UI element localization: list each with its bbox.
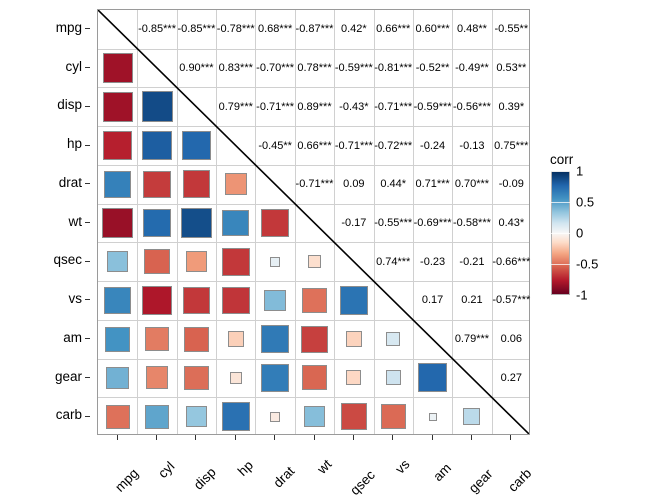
x-axis-tick	[510, 435, 511, 440]
correlation-cell-label: -0.17	[334, 204, 373, 243]
x-axis-tick	[274, 435, 275, 440]
y-axis-label-disp: disp	[57, 86, 82, 125]
correlation-cell-label: -0.71***	[255, 87, 294, 126]
x-axis-tick	[117, 435, 118, 440]
legend-tick-label: 0.5	[576, 196, 594, 209]
y-axis-tick	[85, 416, 90, 417]
correlation-cell-square	[230, 372, 242, 384]
correlation-cell-square	[183, 287, 211, 315]
correlation-cell-square	[301, 326, 328, 353]
correlation-cell-square	[463, 408, 480, 425]
grid-line-horizontal	[98, 359, 529, 360]
correlation-cell-label: 0.78***	[295, 49, 334, 88]
correlation-cell-square	[222, 402, 250, 430]
correlation-cell-label: -0.72***	[374, 126, 413, 165]
x-axis-tick	[195, 435, 196, 440]
x-axis-label-mpg: mpg	[112, 466, 141, 495]
correlation-cell-square	[146, 366, 169, 389]
x-axis-label-disp: disp	[191, 465, 219, 493]
correlation-cell-square	[184, 327, 209, 352]
correlation-cell-label: -0.57***	[492, 281, 531, 320]
x-axis-label-cyl: cyl	[155, 459, 177, 481]
x-axis-label-carb: carb	[505, 466, 534, 495]
correlation-cell-square	[106, 405, 130, 429]
correlation-cell-square	[228, 331, 244, 347]
x-axis-label-hp: hp	[235, 458, 256, 479]
correlation-cell-square	[270, 412, 280, 422]
x-axis-tick	[471, 435, 472, 440]
correlation-cell-square	[418, 363, 447, 392]
correlation-cell-label: 0.17	[413, 281, 452, 320]
correlation-cell-square	[102, 208, 133, 239]
correlation-cell-label: -0.85***	[177, 10, 216, 49]
y-axis-tick	[85, 377, 90, 378]
correlation-cell-square	[304, 406, 325, 427]
y-axis-tick	[85, 145, 90, 146]
correlation-cell-square	[381, 404, 406, 429]
correlation-cell-label: 0.70***	[452, 165, 491, 204]
y-axis-label-carb: carb	[56, 396, 82, 435]
legend-tick-mark	[551, 295, 570, 296]
legend: corr 10.50-0.5-1	[548, 152, 668, 302]
x-axis-tick	[353, 435, 354, 440]
correlation-cell-square	[103, 53, 133, 83]
correlation-cell-label: -0.58***	[452, 204, 491, 243]
correlation-cell-label: -0.71***	[295, 165, 334, 204]
correlation-cell-square	[144, 249, 169, 274]
correlation-cell-square	[386, 370, 401, 385]
legend-tick-label: 0	[576, 227, 583, 240]
correlation-cell-square	[261, 364, 288, 391]
correlation-cell-square	[261, 325, 289, 353]
correlation-cell-label: 0.09	[334, 165, 373, 204]
correlation-cell-label: -0.52**	[413, 49, 452, 88]
y-axis-label-vs: vs	[69, 280, 83, 319]
correlation-cell-square	[142, 91, 173, 122]
legend-tick-label: 1	[576, 165, 583, 178]
x-axis-tick	[314, 435, 315, 440]
correlation-cell-label: -0.24	[413, 126, 452, 165]
correlation-cell-square	[308, 255, 321, 268]
grid-line-vertical	[137, 10, 138, 434]
correlation-cell-square	[104, 171, 131, 198]
correlation-cell-label: 0.48**	[452, 10, 491, 49]
correlation-cell-label: -0.21	[452, 242, 491, 281]
correlation-cell-label: -0.43*	[334, 87, 373, 126]
correlation-cell-square	[182, 131, 211, 160]
y-axis-label-qsec: qsec	[53, 241, 82, 280]
correlation-cell-square	[346, 370, 361, 385]
correlation-cell-label: 0.90***	[177, 49, 216, 88]
correlation-cell-label: -0.81***	[374, 49, 413, 88]
correlation-cell-square	[145, 327, 169, 351]
correlation-matrix-plot: mpgcyldisphpdratwtqsecvsamgearcarb -0.85…	[0, 0, 672, 480]
y-axis-tick	[85, 222, 90, 223]
correlation-cell-label: -0.49**	[452, 49, 491, 88]
x-axis-label-qsec: qsec	[347, 467, 378, 498]
correlation-cell-square	[222, 210, 249, 237]
legend-tick-mark	[551, 264, 570, 265]
correlation-cell-label: 0.83***	[216, 49, 255, 88]
y-axis-label-gear: gear	[55, 358, 82, 397]
correlation-cell-label: -0.71***	[334, 126, 373, 165]
correlation-cell-label: -0.66***	[492, 242, 531, 281]
correlation-cell-label: 0.66***	[295, 126, 334, 165]
x-axis-label-am: am	[430, 460, 454, 484]
correlation-cell-label: -0.69***	[413, 204, 452, 243]
y-axis-label-hp: hp	[67, 125, 82, 164]
correlation-cell-square	[143, 171, 170, 198]
correlation-cell-label: 0.53**	[492, 49, 531, 88]
correlation-cell-square	[302, 365, 327, 390]
correlation-cell-square	[105, 327, 130, 352]
correlation-cell-square	[103, 92, 133, 122]
correlation-cell-label: 0.66***	[374, 10, 413, 49]
correlation-cell-square	[142, 286, 171, 315]
correlation-cell-square	[145, 405, 169, 429]
y-axis-tick	[85, 338, 90, 339]
correlation-cell-label: 0.75***	[492, 126, 531, 165]
x-axis-tick	[392, 435, 393, 440]
correlation-cell-label: -0.71***	[374, 87, 413, 126]
correlation-cell-label: -0.87***	[295, 10, 334, 49]
correlation-cell-square	[302, 288, 326, 312]
correlation-cell-square	[104, 287, 131, 314]
y-axis-tick	[85, 299, 90, 300]
correlation-cell-square	[222, 287, 250, 315]
legend-tick-label: -1	[576, 289, 588, 302]
correlation-cell-square	[103, 131, 132, 160]
correlation-cell-label: 0.44*	[374, 165, 413, 204]
x-axis-label-vs: vs	[393, 457, 413, 477]
correlation-cell-label: 0.60***	[413, 10, 452, 49]
x-axis-label-gear: gear	[466, 466, 496, 496]
correlation-cell-square	[186, 251, 207, 272]
y-axis-label-am: am	[63, 319, 82, 358]
correlation-cell-label: -0.13	[452, 126, 491, 165]
x-axis-label-drat: drat	[270, 463, 297, 490]
grid-line-horizontal	[98, 397, 529, 398]
correlation-cell-label: 0.06	[492, 320, 531, 359]
correlation-cell-label: 0.89***	[295, 87, 334, 126]
correlation-cell-square	[264, 290, 286, 312]
correlation-cell-square	[186, 406, 206, 426]
correlation-cell-square	[142, 131, 172, 161]
correlation-cell-square	[106, 367, 129, 390]
correlation-cell-square	[143, 209, 172, 238]
legend-tick-mark	[551, 171, 570, 172]
y-axis-label-wt: wt	[69, 203, 83, 242]
correlation-cell-label: -0.56***	[452, 87, 491, 126]
correlation-cell-square	[222, 248, 250, 276]
correlation-cell-label: 0.68***	[255, 10, 294, 49]
correlation-cell-label: -0.45**	[255, 126, 294, 165]
correlation-cell-label: -0.09	[492, 165, 531, 204]
legend-title: corr	[550, 152, 573, 167]
correlation-cell-label: 0.43*	[492, 204, 531, 243]
correlation-cell-label: 0.79***	[216, 87, 255, 126]
x-axis-tick	[235, 435, 236, 440]
correlation-cell-label: -0.55***	[374, 204, 413, 243]
correlation-cell-square	[429, 413, 437, 421]
correlation-cell-square	[184, 366, 208, 390]
y-axis-label-cyl: cyl	[66, 48, 83, 87]
legend-tick-mark	[551, 202, 570, 203]
y-axis-tick	[85, 28, 90, 29]
y-axis-tick	[85, 67, 90, 68]
correlation-cell-square	[386, 332, 399, 345]
correlation-cell-square	[341, 403, 368, 430]
correlation-cell-square	[346, 331, 362, 347]
y-axis: mpgcyldisphpdratwtqsecvsamgearcarb	[0, 9, 92, 435]
y-axis-label-mpg: mpg	[56, 9, 82, 48]
x-axis-tick	[432, 435, 433, 440]
correlation-cell-label: -0.23	[413, 242, 452, 281]
correlation-cell-label: -0.70***	[255, 49, 294, 88]
x-axis-label-wt: wt	[314, 457, 334, 477]
x-axis: mpgcyldisphpdratwtqsecvsamgearcarb	[97, 435, 530, 480]
y-axis-tick	[85, 106, 90, 107]
correlation-cell-square	[181, 208, 212, 239]
correlation-cell-label: -0.85***	[137, 10, 176, 49]
correlation-cell-label: -0.59***	[334, 49, 373, 88]
correlation-cell-label: 0.79***	[452, 320, 491, 359]
correlation-cell-square	[261, 209, 289, 237]
y-axis-label-drat: drat	[59, 164, 82, 203]
correlation-cell-label: 0.21	[452, 281, 491, 320]
correlation-cell-square	[340, 286, 368, 314]
legend-tick-mark	[551, 233, 570, 234]
correlation-cell-label: 0.71***	[413, 165, 452, 204]
legend-tick-label: -0.5	[576, 258, 598, 271]
correlation-cell-square	[225, 173, 247, 195]
y-axis-tick	[85, 183, 90, 184]
correlation-cell-label: -0.59***	[413, 87, 452, 126]
correlation-cell-label: 0.27	[492, 359, 531, 398]
correlation-cell-label: -0.78***	[216, 10, 255, 49]
x-axis-tick	[156, 435, 157, 440]
correlation-cell-label: 0.42*	[334, 10, 373, 49]
correlation-cell-square	[107, 251, 128, 272]
correlation-cell-label: -0.55**	[492, 10, 531, 49]
plot-panel: -0.85***-0.85***-0.78***0.68***-0.87***0…	[97, 9, 530, 435]
correlation-cell-square	[270, 257, 280, 267]
correlation-cell-label: 0.39*	[492, 87, 531, 126]
correlation-cell-label: 0.74***	[374, 242, 413, 281]
y-axis-tick	[85, 261, 90, 262]
correlation-cell-square	[183, 170, 211, 198]
